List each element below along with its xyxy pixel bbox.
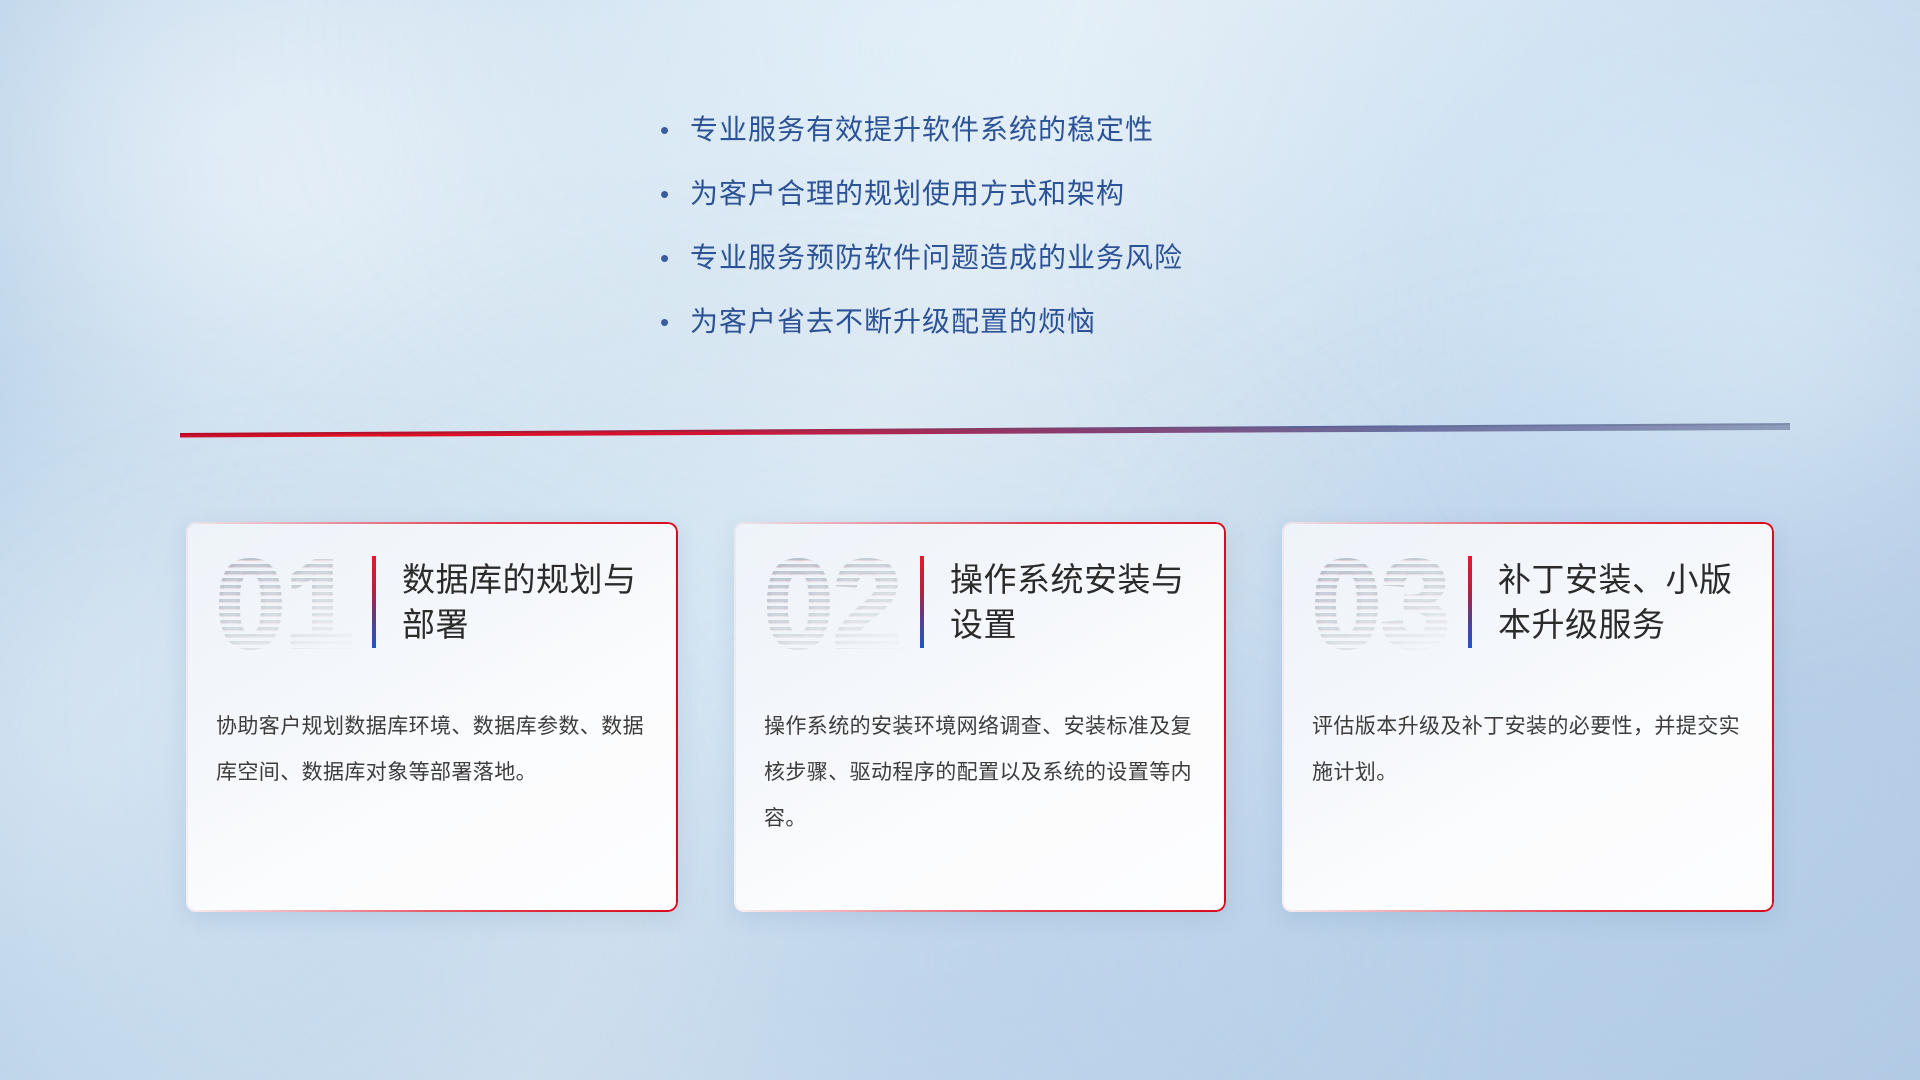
bullet-point-icon: • — [660, 238, 690, 278]
bullet-text: 专业服务预防软件问题造成的业务风险 — [690, 238, 1183, 278]
service-card-list: 01 01 数据库的规划与部署 协助客户规划数据库环境、数据库参数、数据库空间、… — [186, 522, 1774, 912]
card-description: 协助客户规划数据库环境、数据库参数、数据库空间、数据库对象等部署落地。 — [186, 682, 678, 796]
bullet-point-icon: • — [660, 302, 690, 342]
bullet-text: 专业服务有效提升软件系统的稳定性 — [690, 110, 1154, 150]
card-number-watermark: 01 01 — [216, 543, 366, 661]
card-accent-bar — [920, 556, 924, 648]
list-item: • 专业服务预防软件问题造成的业务风险 — [660, 238, 1420, 278]
card-accent-bar — [372, 556, 376, 648]
card-description: 操作系统的安装环境网络调查、安装标准及复核步骤、驱动程序的配置以及系统的设置等内… — [734, 682, 1226, 842]
svg-text:03: 03 — [1312, 543, 1450, 661]
service-card[interactable]: 02 02 操作系统安装与设置 操作系统的安装环境网络调查、安装标准及复核步骤、… — [734, 522, 1226, 912]
card-title: 操作系统安装与设置 — [950, 557, 1226, 647]
bullet-text: 为客户合理的规划使用方式和架构 — [690, 174, 1125, 214]
card-header: 03 03 补丁安装、小版本升级服务 — [1282, 522, 1774, 682]
card-description: 评估版本升级及补丁安装的必要性，并提交实施计划。 — [1282, 682, 1774, 796]
bullet-point-icon: • — [660, 110, 690, 150]
benefits-bullet-list: • 专业服务有效提升软件系统的稳定性 • 为客户合理的规划使用方式和架构 • 专… — [660, 110, 1420, 366]
bullet-text: 为客户省去不断升级配置的烦恼 — [690, 302, 1096, 342]
service-card[interactable]: 01 01 数据库的规划与部署 协助客户规划数据库环境、数据库参数、数据库空间、… — [186, 522, 678, 912]
list-item: • 为客户省去不断升级配置的烦恼 — [660, 302, 1420, 342]
card-header: 01 01 数据库的规划与部署 — [186, 522, 678, 682]
card-title: 数据库的规划与部署 — [402, 557, 678, 647]
card-number-watermark: 02 02 — [764, 543, 914, 661]
card-header: 02 02 操作系统安装与设置 — [734, 522, 1226, 682]
section-divider — [180, 418, 1790, 438]
service-card[interactable]: 03 03 补丁安装、小版本升级服务 评估版本升级及补丁安装的必要性，并提交实施… — [1282, 522, 1774, 912]
card-title: 补丁安装、小版本升级服务 — [1498, 557, 1774, 647]
card-accent-bar — [1468, 556, 1472, 648]
svg-text:02: 02 — [764, 543, 902, 661]
card-number-watermark: 03 03 — [1312, 543, 1462, 661]
list-item: • 专业服务有效提升软件系统的稳定性 — [660, 110, 1420, 150]
bullet-point-icon: • — [660, 174, 690, 214]
list-item: • 为客户合理的规划使用方式和架构 — [660, 174, 1420, 214]
svg-text:01: 01 — [216, 543, 354, 661]
